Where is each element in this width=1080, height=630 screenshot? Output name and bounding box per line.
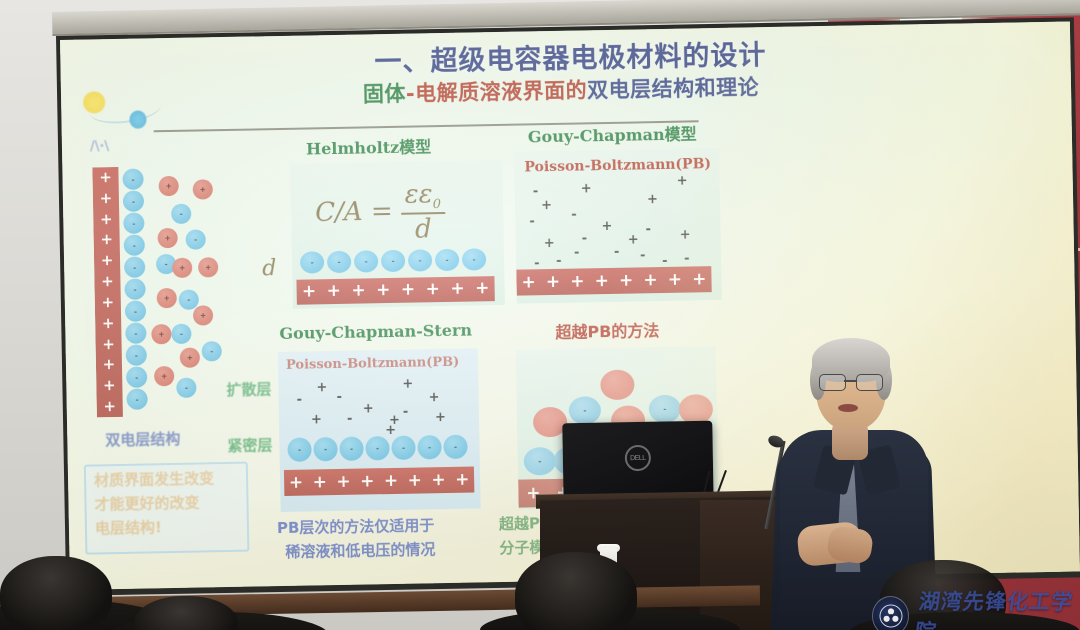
ion-symbol-negative: - — [347, 413, 353, 426]
ion-symbol-positive: + — [541, 199, 552, 212]
plus-icon: + — [384, 472, 399, 489]
gouy-chapman-stern-figure: Poisson-Boltzmann(PB) + + - - + + - + - … — [278, 348, 481, 512]
ion-negative: - — [122, 168, 143, 189]
ion-negative: - — [124, 234, 145, 255]
plus-icon: + — [475, 280, 490, 297]
helmholtz-formula: C/A = εε0 d — [315, 179, 446, 247]
plus-icon: + — [692, 271, 707, 288]
ion-positive: + — [193, 305, 213, 325]
ion-negative: - — [125, 300, 146, 321]
ion-symbol-negative: - — [684, 253, 690, 266]
plus-icon: + — [100, 232, 113, 247]
ion-symbol-negative: - — [556, 255, 562, 268]
subtitle-part-b: -电解质溶液界面的 — [406, 78, 588, 105]
ion-negative: - — [391, 436, 415, 460]
handwriting-line-1: 材质界面发生改变 — [94, 469, 214, 490]
ion-negative: - — [185, 229, 205, 249]
ion-symbol-negative: - — [336, 391, 342, 404]
ion-negative: - — [202, 341, 222, 361]
ion-negative: - — [327, 251, 351, 273]
ion-symbol-positive: + — [628, 233, 639, 246]
ion-negative: - — [417, 435, 441, 459]
ion-symbol-negative: - — [614, 246, 620, 259]
handwriting-line-3: 电层结构! — [95, 518, 162, 538]
ion-negative: - — [125, 322, 146, 343]
heading-gouy-chapman: Gouy-Chapman模型 — [528, 120, 697, 147]
ion-symbol-negative: - — [533, 185, 539, 198]
ion-symbol-negative: - — [645, 223, 651, 236]
electrode-bar-helmholtz: + + + + + + + + — [296, 276, 494, 305]
subtitle-part-c: 双电层结构和理论 — [587, 75, 759, 102]
ion-negative: - — [126, 388, 147, 409]
helmholtz-figure: C/A = εε0 d - - - - - - - + + + + — [290, 160, 505, 309]
ion-negative: - — [339, 437, 363, 461]
plus-icon: + — [99, 170, 112, 185]
audience-head — [515, 552, 637, 630]
ion-symbol-negative: - — [571, 209, 577, 222]
plus-icon: + — [401, 282, 416, 299]
plus-icon: + — [289, 474, 304, 491]
subheading-poisson-boltzmann-stern: Poisson-Boltzmann(PB) — [286, 355, 460, 373]
plus-icon: + — [450, 281, 465, 298]
left-figure-note: 双电层结构 — [105, 430, 180, 450]
note-compact-layer: 紧密层 — [227, 436, 272, 456]
ion-positive: + — [157, 228, 177, 248]
plus-icon: + — [99, 191, 112, 206]
ion-negative: - — [435, 249, 459, 271]
ion-symbol-positive: + — [435, 411, 446, 424]
caption-stern-line-1: PB层次的方法仅适用于 — [277, 515, 435, 538]
watermark-text: 湖湾先锋化工学院 — [913, 586, 1080, 630]
formula-fraction: εε0 d — [400, 179, 445, 245]
ion-positive: + — [198, 257, 218, 277]
glasses-lens-left — [819, 374, 846, 391]
plus-icon: + — [102, 337, 115, 352]
ion-symbol-positive: + — [677, 175, 688, 188]
heading-helmholtz: Helmholtz模型 — [306, 133, 432, 159]
plus-icon: + — [336, 473, 351, 490]
ion-negative: - — [171, 324, 191, 344]
lecture-photo: 一、超级电容器电极材料的设计 固体-电解质溶液界面的双电层结构和理论 /\·\ … — [0, 0, 1080, 630]
ion-negative: - — [124, 278, 145, 299]
ion-symbol-positive: + — [385, 424, 396, 437]
formula-denominator: d — [401, 214, 446, 245]
ion-positive: + — [157, 288, 177, 308]
ion-symbol-positive: + — [363, 402, 374, 415]
ion-negative: - — [126, 366, 147, 387]
ion-negative: - — [123, 190, 144, 211]
plus-icon: + — [619, 272, 634, 289]
ion-negative-large: - — [524, 447, 557, 476]
ion-negative-large: - — [569, 396, 602, 425]
plus-icon: + — [570, 273, 585, 290]
formula-numerator: εε0 — [400, 179, 445, 215]
formula-lhs: C/A = — [315, 197, 393, 228]
plus-icon: + — [595, 272, 610, 289]
ion-negative: - — [126, 344, 147, 365]
ion-negative: - — [124, 256, 145, 277]
plus-icon: + — [102, 316, 115, 331]
ion-negative: - — [123, 212, 144, 233]
plus-icon: + — [546, 273, 561, 290]
plus-icon: + — [103, 357, 116, 372]
ion-positive: + — [193, 179, 213, 199]
ion-negative: - — [443, 435, 467, 459]
ion-positive: + — [159, 176, 179, 196]
ion-symbol-negative: - — [640, 249, 646, 262]
electrode-bar-stern: + + + + + + + + — [284, 466, 474, 495]
electrode-bar-gouy: + + + + + + + + — [516, 266, 711, 296]
ion-symbol-positive: + — [316, 381, 327, 394]
blue-dot-icon — [129, 110, 146, 128]
ion-symbol-positive: + — [311, 413, 322, 426]
plus-icon: + — [643, 272, 658, 289]
ion-positive: + — [154, 366, 174, 386]
glasses-lens-right — [856, 374, 883, 391]
ion-negative: - — [365, 436, 389, 460]
speaker-mouth — [838, 404, 858, 412]
ion-symbol-negative: - — [297, 394, 303, 407]
ion-symbol-negative: - — [529, 215, 535, 228]
ion-symbol-positive: + — [680, 228, 691, 241]
plus-icon: + — [668, 271, 683, 288]
ion-positive: + — [172, 258, 192, 278]
handwriting-line-2: 才能更好的改变 — [94, 494, 199, 515]
ion-symbol-positive: + — [428, 391, 439, 404]
dell-logo-icon: DELL — [625, 445, 651, 471]
heading-gouy-chapman-stern: Gouy-Chapman-Stern — [279, 321, 472, 344]
distance-label-d: d — [262, 256, 277, 281]
ion-negative: - — [354, 250, 378, 272]
ion-negative: - — [287, 437, 311, 461]
ion-negative-large: - — [649, 395, 682, 424]
plus-icon: + — [101, 274, 114, 289]
note-diffuse-layer: 扩散层 — [226, 380, 271, 400]
plus-icon: + — [302, 283, 317, 300]
ion-symbol-positive: + — [647, 193, 658, 206]
plus-icon: + — [351, 282, 366, 299]
ion-negative: - — [313, 437, 337, 461]
plus-icon: + — [103, 399, 116, 414]
ion-negative: - — [462, 248, 486, 270]
plus-icon: + — [376, 282, 391, 299]
ion-positive-large — [600, 370, 635, 401]
ion-negative: - — [300, 251, 324, 273]
trefoil-logo-icon — [872, 596, 909, 630]
ion-positive: + — [151, 324, 171, 344]
plus-icon: + — [312, 474, 327, 491]
plus-icon: + — [455, 471, 470, 488]
plus-icon: + — [521, 274, 536, 291]
ion-symbol-positive: + — [544, 237, 555, 250]
speaker-glasses — [818, 374, 884, 390]
plus-icon: + — [360, 473, 375, 490]
plus-icon: + — [103, 378, 116, 393]
ion-negative: - — [176, 378, 196, 398]
audience-head — [0, 556, 112, 630]
ion-negative: - — [171, 204, 191, 224]
subtitle-part-a: 固体 — [363, 82, 406, 107]
watermark: 湖湾先锋化工学院 — [872, 586, 1080, 630]
plus-icon: + — [327, 283, 342, 300]
ion-symbol-negative: - — [403, 406, 409, 419]
left-figure-scribble: /\·\ — [90, 139, 109, 156]
caption-stern-line-2: 稀溶液和低电压的情况 — [285, 539, 435, 562]
ion-symbol-positive: + — [601, 220, 612, 233]
plus-icon: + — [101, 253, 114, 268]
left-double-layer-figure: + + + + + + + + + + + + - - - - — [92, 164, 287, 417]
ion-symbol-negative: - — [574, 247, 580, 260]
electrode-bar-vertical: + + + + + + + + + + + + — [92, 167, 123, 417]
ion-negative: - — [408, 249, 432, 271]
glasses-bridge — [844, 380, 856, 382]
plus-icon: + — [431, 472, 446, 489]
ion-negative: - — [381, 250, 405, 272]
ion-positive: + — [180, 347, 200, 367]
heading-beyond-pb: 超越PB的方法 — [555, 317, 659, 343]
plus-icon: + — [101, 295, 114, 310]
plus-icon: + — [425, 281, 440, 298]
plus-icon: + — [100, 212, 113, 227]
ion-symbol-negative: - — [582, 232, 588, 245]
ion-symbol-positive: + — [402, 378, 413, 391]
plus-icon: + — [407, 472, 422, 489]
ion-symbol-positive: + — [581, 182, 592, 195]
gouy-chapman-figure: Poisson-Boltzmann(PB) - + + + + - - + - … — [514, 148, 722, 304]
